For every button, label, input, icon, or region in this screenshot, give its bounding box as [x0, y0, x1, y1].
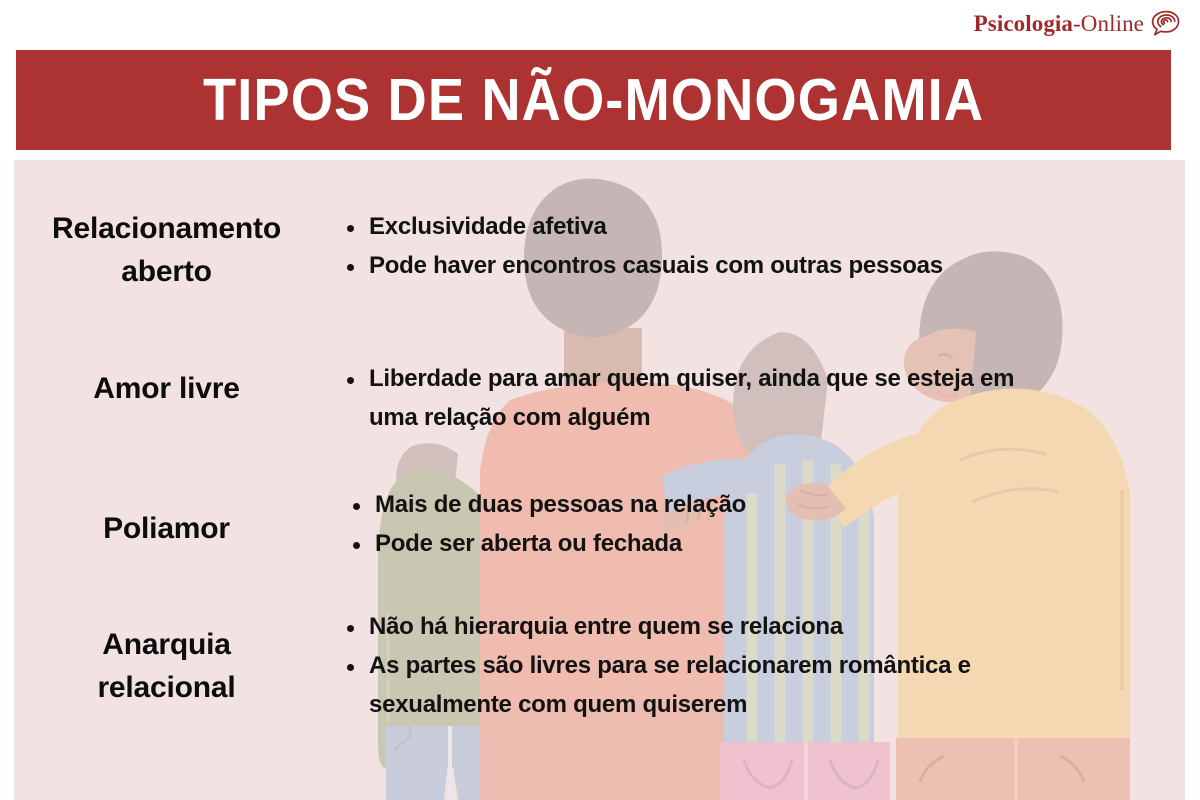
- list-item: As partes são livres para se relacionare…: [341, 647, 1059, 725]
- row-label: Anarquia relacional: [14, 608, 319, 709]
- logo-bar: Psicologia-Online: [0, 0, 1200, 48]
- row-bullets: Não há hierarquia entre quem se relacion…: [319, 608, 1185, 725]
- row-label: Relacionamento aberto: [14, 208, 319, 293]
- row-label: Amor livre: [14, 360, 319, 411]
- bullet-list: Mais de duas pessoas na relação Pode ser…: [347, 486, 1185, 564]
- list-item: Mais de duas pessoas na relação: [347, 486, 1185, 525]
- row-poliamor: Poliamor Mais de duas pessoas na relação…: [14, 486, 1185, 564]
- page-title: TIPOS DE NÃO-MONOGAMIA: [203, 66, 984, 134]
- row-bullets: Liberdade para amar quem quiser, ainda q…: [319, 360, 1185, 438]
- brain-icon: [1148, 9, 1182, 39]
- row-label-line: Amor livre: [14, 368, 319, 411]
- list-item: Pode ser aberta ou fechada: [347, 525, 1185, 564]
- title-banner: TIPOS DE NÃO-MONOGAMIA: [16, 50, 1171, 150]
- rows-container: Relacionamento aberto Exclusividade afet…: [14, 160, 1185, 800]
- brand-name-rest: -Online: [1073, 11, 1144, 36]
- row-label-line: Poliamor: [14, 508, 319, 551]
- list-item: Pode haver encontros casuais com outras …: [341, 247, 1185, 286]
- row-bullets: Mais de duas pessoas na relação Pode ser…: [319, 486, 1185, 564]
- list-item: Exclusividade afetiva: [341, 208, 1185, 247]
- row-label-line: relacional: [14, 667, 319, 710]
- list-item: Não há hierarquia entre quem se relacion…: [341, 608, 1185, 647]
- bullet-list: Não há hierarquia entre quem se relacion…: [341, 608, 1185, 725]
- list-item: Liberdade para amar quem quiser, ainda q…: [341, 360, 1069, 438]
- bullet-list: Liberdade para amar quem quiser, ainda q…: [341, 360, 1185, 438]
- row-bullets: Exclusividade afetiva Pode haver encontr…: [319, 208, 1185, 286]
- brand-logo[interactable]: Psicologia-Online: [974, 9, 1182, 39]
- bullet-list: Exclusividade afetiva Pode haver encontr…: [341, 208, 1185, 286]
- row-label-line: aberto: [14, 251, 319, 294]
- row-label: Poliamor: [14, 486, 319, 551]
- row-amor-livre: Amor livre Liberdade para amar quem quis…: [14, 360, 1185, 438]
- row-relacionamento-aberto: Relacionamento aberto Exclusividade afet…: [14, 208, 1185, 293]
- row-anarquia-relacional: Anarquia relacional Não há hierarquia en…: [14, 608, 1185, 725]
- row-label-line: Relacionamento: [14, 208, 319, 251]
- brand-name: Psicologia-Online: [974, 11, 1144, 37]
- brand-name-bold: Psicologia: [974, 11, 1073, 36]
- row-label-line: Anarquia: [14, 624, 319, 667]
- content-panel: Relacionamento aberto Exclusividade afet…: [14, 160, 1185, 800]
